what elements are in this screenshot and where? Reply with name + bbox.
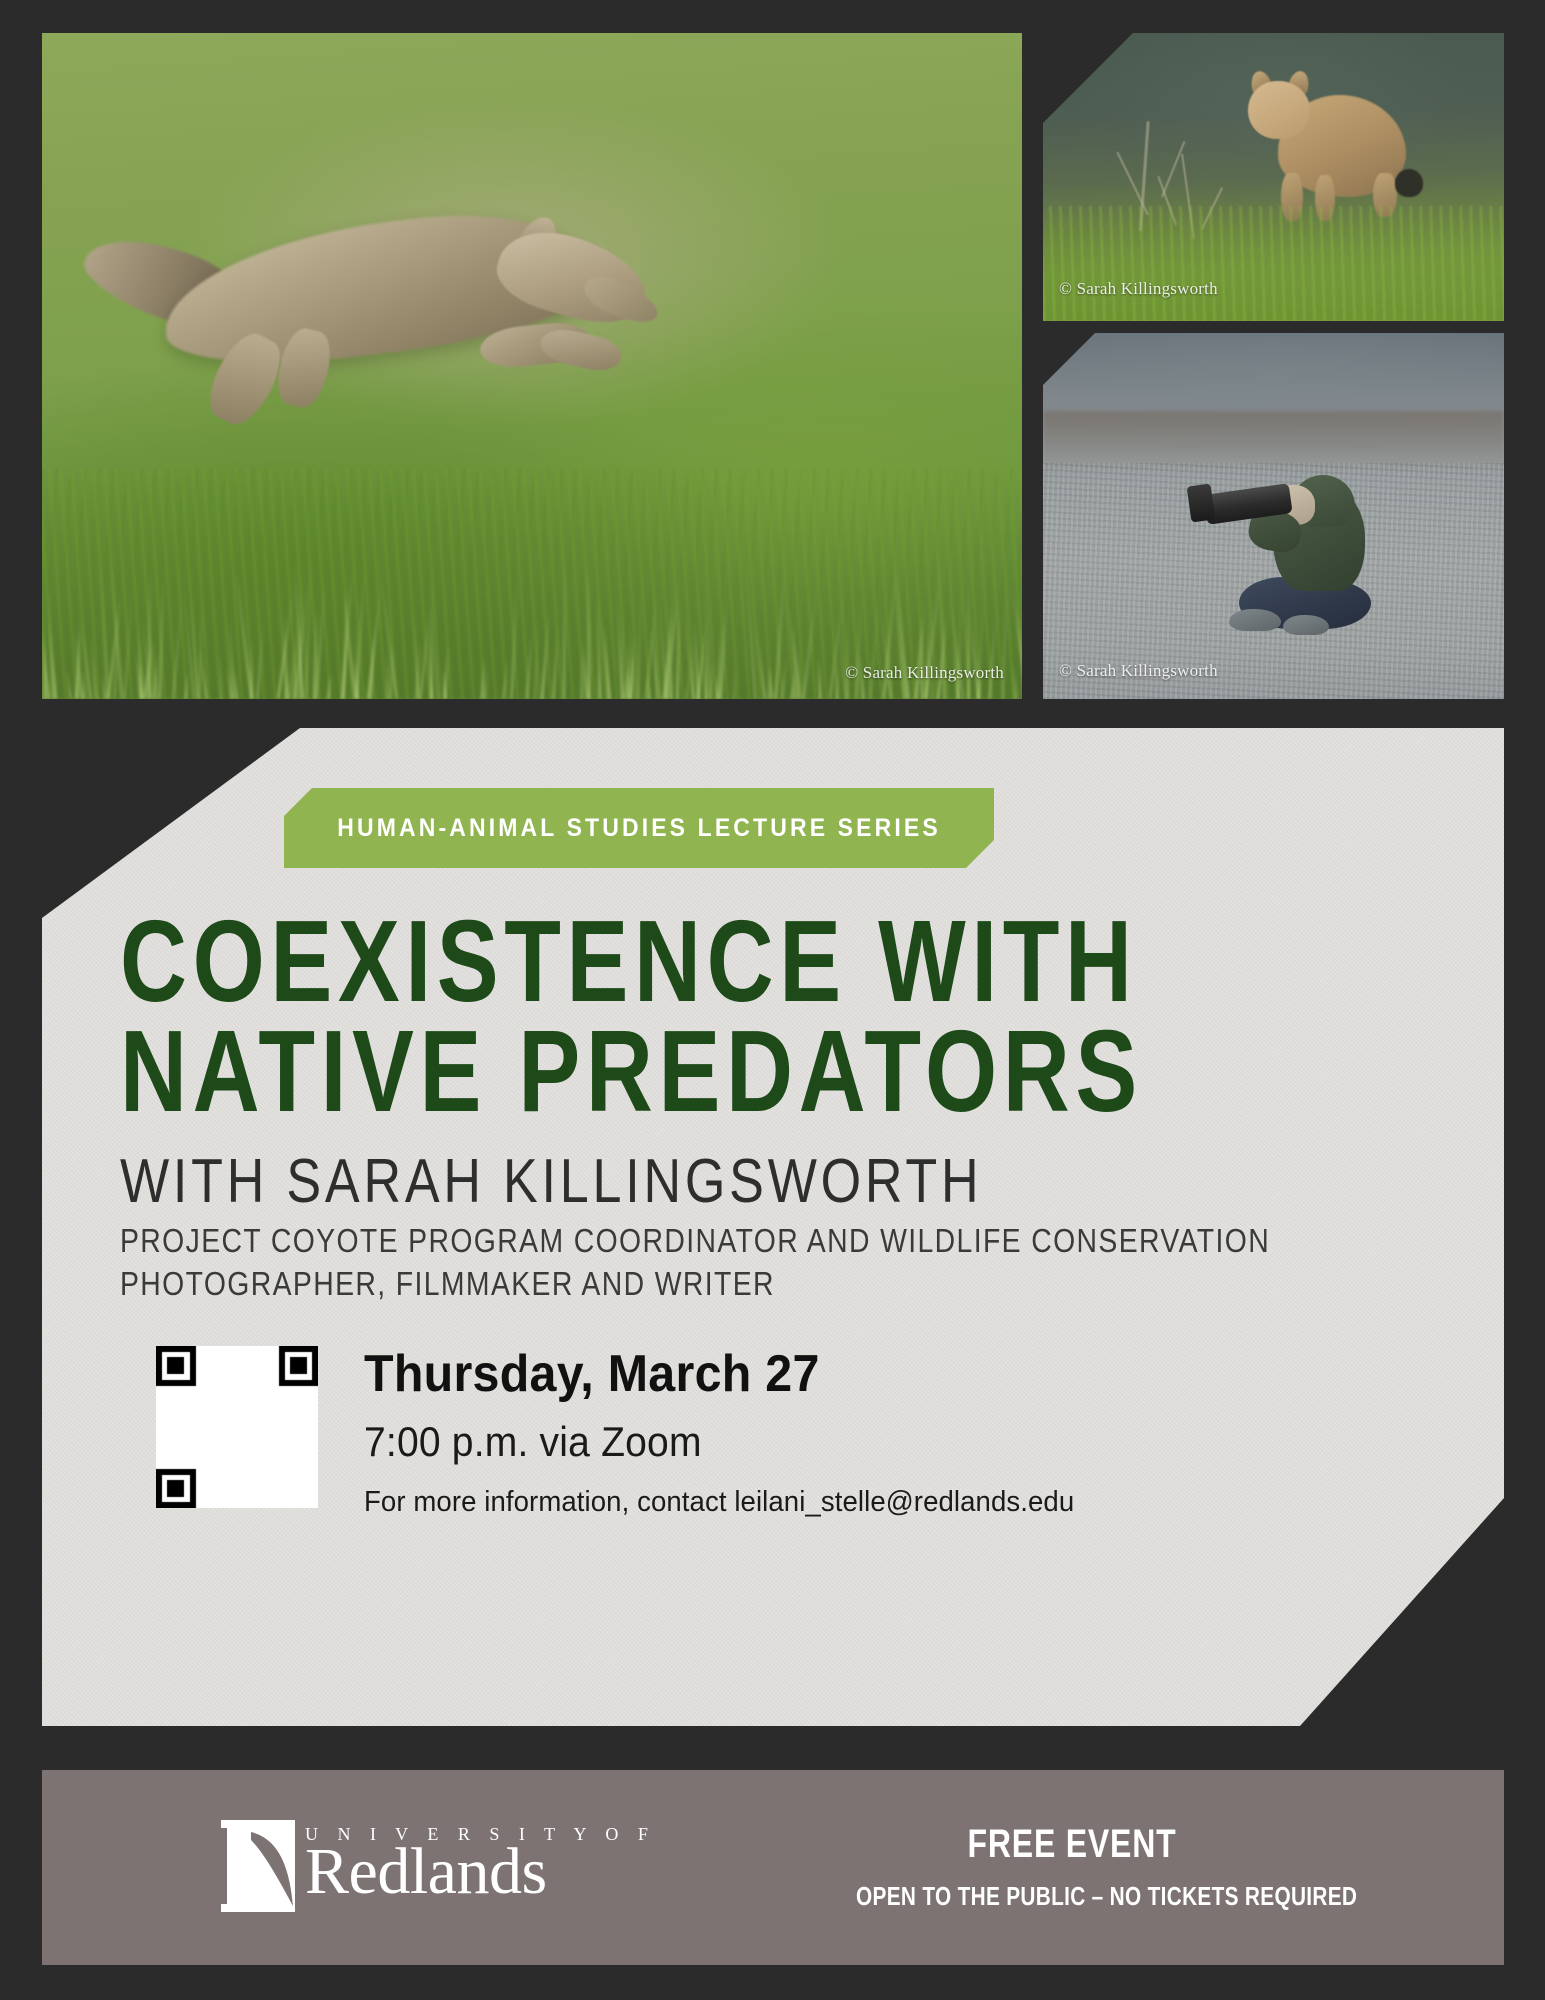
- grass-blade: [81, 669, 85, 699]
- grass-blade: [256, 619, 265, 699]
- grass-blade: [755, 626, 767, 699]
- grass-blade: [123, 587, 134, 699]
- photo-credit-bobcat: © Sarah Killingsworth: [1059, 279, 1218, 299]
- bobcat-head-shape: [1248, 81, 1310, 139]
- grass-blade: [218, 644, 223, 699]
- qr-code[interactable]: [156, 1346, 318, 1508]
- redlands-r-logo-icon: [207, 1820, 295, 1912]
- logo-redlands-text: Redlands: [305, 1841, 655, 1904]
- photo-bobcat: © Sarah Killingsworth: [1043, 33, 1504, 321]
- lecture-series-banner: HUMAN-ANIMAL STUDIES LECTURE SERIES: [284, 788, 994, 868]
- event-details: Thursday, March 27 7:00 p.m. via Zoom Fo…: [364, 1344, 1112, 1519]
- event-time: 7:00 p.m. via Zoom: [364, 1418, 1059, 1466]
- event-date: Thursday, March 27: [364, 1344, 1059, 1404]
- grass-blade: [541, 611, 551, 699]
- main-content-card: HUMAN-ANIMAL STUDIES LECTURE SERIES COEX…: [42, 728, 1504, 1726]
- grass-blade: [629, 654, 634, 699]
- bobcat-tail-shape: [1395, 169, 1423, 197]
- speaker-name: WITH SARAH KILLINGSWORTH: [120, 1146, 982, 1217]
- photo-credit-coyote: © Sarah Killingsworth: [845, 663, 1004, 683]
- grass-blade: [835, 659, 839, 699]
- grass-blade: [525, 627, 534, 699]
- speaker-role-line-1: PROJECT COYOTE PROGRAM COORDINATOR AND W…: [120, 1220, 1281, 1263]
- grass-blade: [636, 582, 642, 699]
- grass-blade: [250, 635, 254, 699]
- lecture-series-label: HUMAN-ANIMAL STUDIES LECTURE SERIES: [337, 814, 941, 843]
- logo-wordmark: U N I V E R S I T Y O F Redlands: [305, 1824, 655, 1904]
- grass-blade: [780, 655, 788, 699]
- grass-blade: [326, 672, 332, 699]
- grass-blade: [802, 581, 819, 699]
- photo-strip: © Sarah Killingsworth © Sarah Killingswo…: [42, 33, 1504, 699]
- grass-blade: [185, 671, 190, 699]
- grass-blade: [846, 609, 849, 699]
- photo-coyote: © Sarah Killingsworth: [42, 33, 1022, 699]
- photo-credit-photographer: © Sarah Killingsworth: [1059, 661, 1218, 681]
- free-event-block: FREE EVENT OPEN TO THE PUBLIC – NO TICKE…: [802, 1822, 1342, 1912]
- grass-blade: [502, 658, 510, 699]
- grass-blade: [869, 598, 881, 699]
- grass-blade: [534, 615, 540, 699]
- grass-blade: [510, 578, 519, 699]
- photo-photographer: © Sarah Killingsworth: [1043, 333, 1504, 699]
- event-contact: For more information, contact leilani_st…: [364, 1486, 1074, 1519]
- free-event-title: FREE EVENT: [856, 1822, 1288, 1867]
- grass-foreground: [1043, 206, 1504, 321]
- speaker-role-line-2: PHOTOGRAPHER, FILMMAKER AND WRITER: [120, 1263, 1281, 1306]
- grass-blade: [669, 666, 673, 699]
- camera-lens-hood-shape: [1187, 484, 1216, 523]
- title-line-1: COEXISTENCE WITH: [120, 906, 1160, 1016]
- grass-blade: [988, 616, 997, 699]
- speaker-role: PROJECT COYOTE PROGRAM COORDINATOR AND W…: [120, 1220, 1281, 1306]
- title-line-2: NATIVE PREDATORS: [120, 1016, 1160, 1126]
- grass-blade: [551, 626, 558, 699]
- twig-shape: [1161, 141, 1185, 197]
- page-title: COEXISTENCE WITH NATIVE PREDATORS: [120, 906, 1160, 1126]
- grass-blade: [817, 656, 822, 699]
- grass-blade: [158, 572, 165, 699]
- photographer-shoe-shape: [1283, 615, 1329, 635]
- grass-blade: [595, 590, 602, 699]
- grass-blade: [732, 664, 736, 699]
- footer-bar: U N I V E R S I T Y O F Redlands FREE EV…: [42, 1770, 1504, 1965]
- photographer-shoe-shape: [1229, 609, 1281, 631]
- grass-blade: [579, 655, 582, 699]
- grass-blade: [562, 556, 566, 699]
- free-event-subtitle: OPEN TO THE PUBLIC – NO TICKETS REQUIRED: [856, 1881, 1288, 1912]
- grass-blade: [386, 649, 389, 699]
- grass-blade: [430, 576, 433, 699]
- grass-blade: [65, 668, 72, 699]
- grass-blade: [444, 644, 450, 699]
- university-logo: U N I V E R S I T Y O F Redlands: [207, 1820, 655, 1912]
- grass-blade: [171, 595, 183, 699]
- coyote-leg-shape: [537, 325, 624, 375]
- shoreline-shape: [1043, 411, 1504, 469]
